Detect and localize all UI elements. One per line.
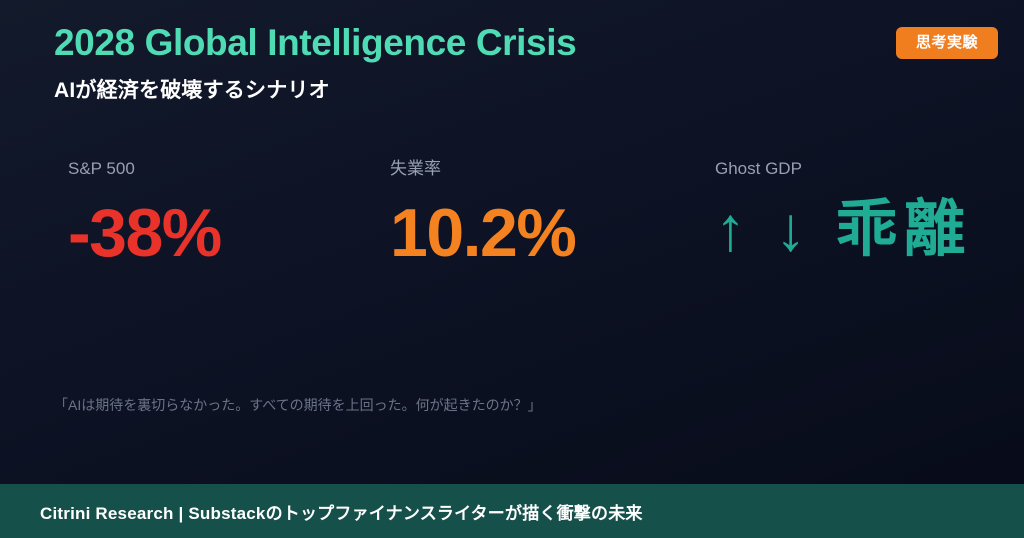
metric-label: S&P 500 xyxy=(68,160,221,177)
metric-value: ↑ ↓ 乖離 xyxy=(715,199,971,261)
footer-attribution: Citrini Research | Substackのトップファイナンスライタ… xyxy=(40,499,643,524)
metric-value: 10.2% xyxy=(390,199,575,267)
footer-bar: Citrini Research | Substackのトップファイナンスライタ… xyxy=(0,484,1024,538)
header: 2028 Global Intelligence Crisis AIが経済を破壊… xyxy=(54,22,854,104)
status-badge: 思考実験 xyxy=(896,27,998,59)
page-title: 2028 Global Intelligence Crisis xyxy=(54,22,854,65)
metric-label: 失業率 xyxy=(390,160,575,177)
metric-card-unemployment: 失業率 10.2% xyxy=(390,160,575,267)
metric-value: -38% xyxy=(68,199,221,267)
metric-label: Ghost GDP xyxy=(715,160,971,177)
slide-canvas: 2028 Global Intelligence Crisis AIが経済を破壊… xyxy=(0,0,1024,538)
metric-card-ghost-gdp: Ghost GDP ↑ ↓ 乖離 xyxy=(715,160,971,261)
metrics-row: S&P 500 -38% 失業率 10.2% Ghost GDP ↑ ↓ 乖離 xyxy=(0,160,1024,300)
quote-text: 「AIは期待を裏切らなかった。すべての期待を上回った。何が起きたのか？」 xyxy=(54,396,542,416)
page-subtitle: AIが経済を破壊するシナリオ xyxy=(54,74,854,104)
metric-card-sp500: S&P 500 -38% xyxy=(68,160,221,267)
